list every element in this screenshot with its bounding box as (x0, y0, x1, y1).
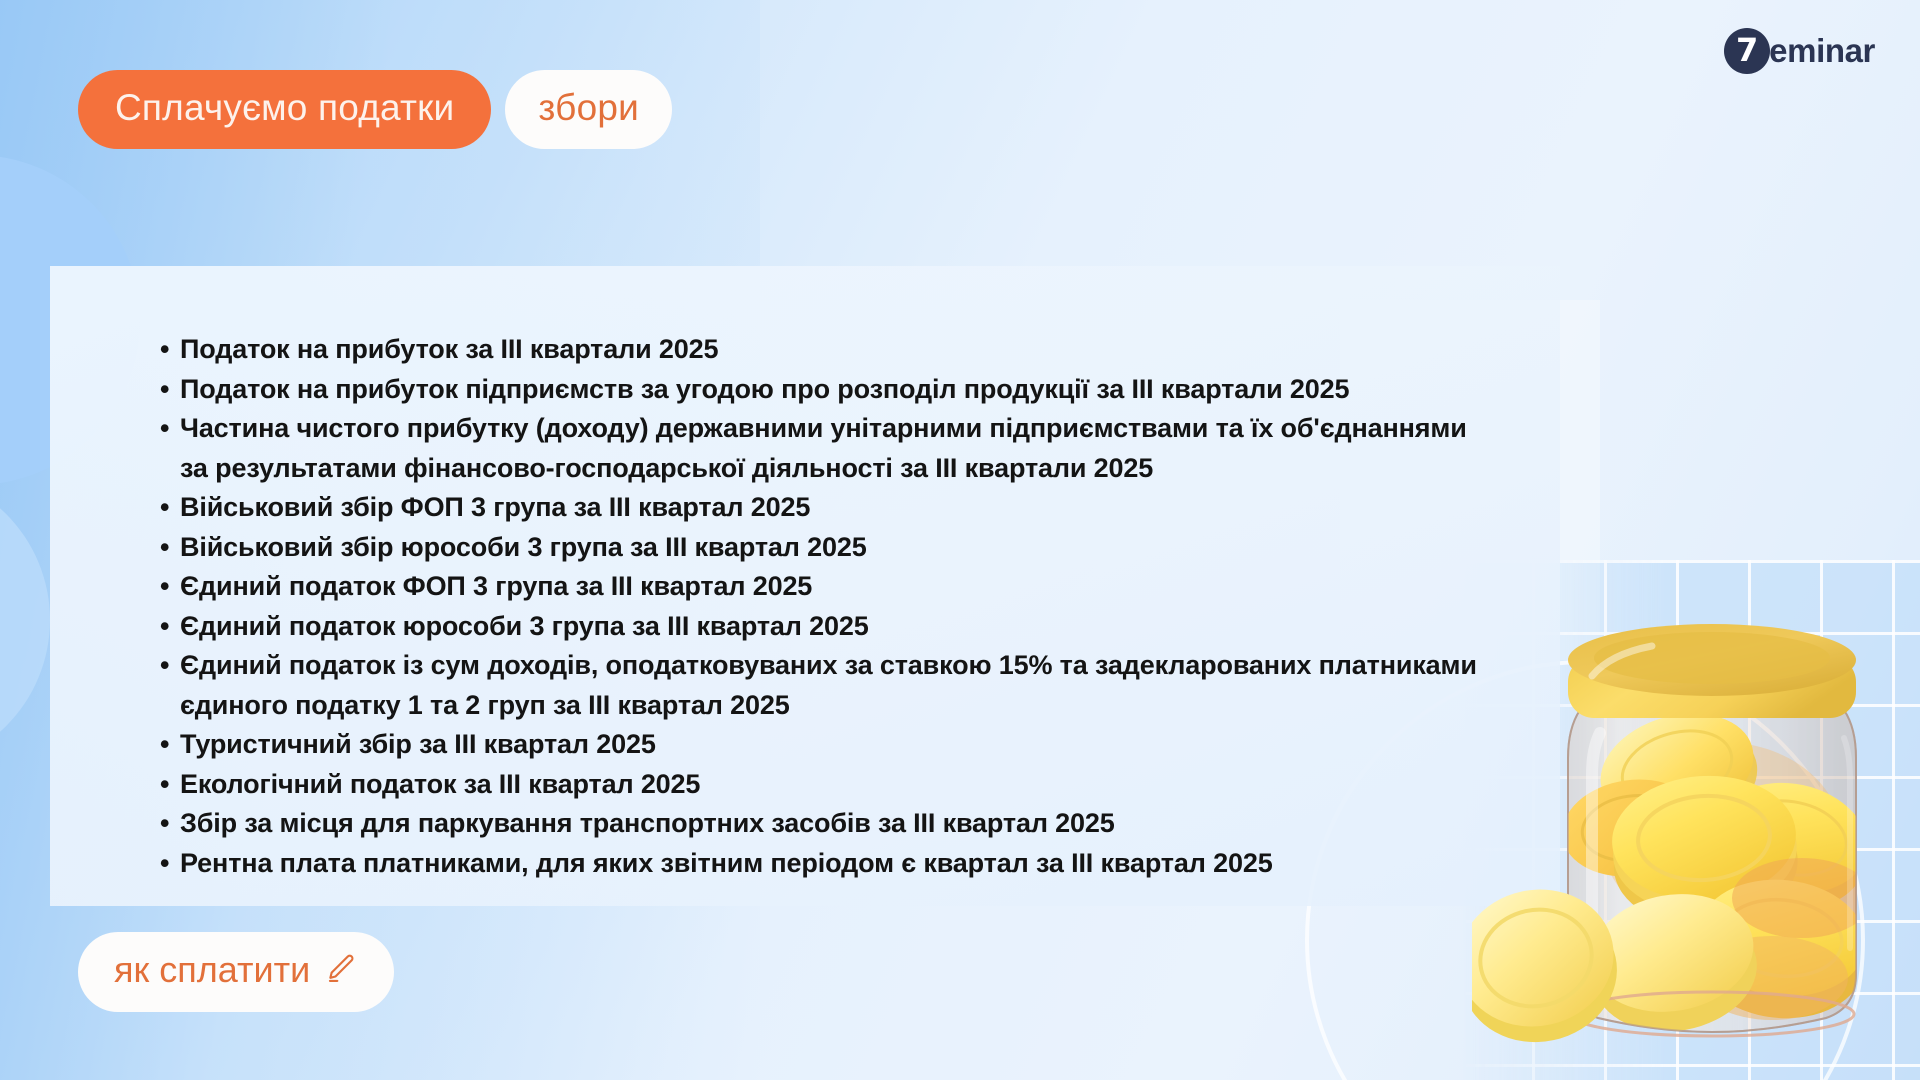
header-title-row: Сплачуємо податки збори (78, 70, 672, 149)
tax-list-item: Військовий збір ФОП 3 група за III кварт… (160, 488, 1490, 528)
pencil-icon (324, 952, 358, 986)
slide-root: Сплачуємо податки збори 7 eminar Податок… (0, 0, 1920, 1080)
tax-list-item: Збір за місця для паркування транспортни… (160, 804, 1490, 844)
background-circle-decoration-secondary (0, 470, 50, 770)
tax-list-item: Частина чистого прибутку (доходу) держав… (160, 409, 1490, 488)
brand-logo[interactable]: 7 eminar (1724, 28, 1875, 74)
tax-list-item: Рентна плата платниками, для яких звітни… (160, 844, 1490, 884)
how-to-pay-label: як сплатити (114, 952, 310, 988)
tax-obligations-list: Податок на прибуток за III квартали 2025… (160, 330, 1490, 883)
tax-list-item: Єдиний податок юрособи 3 група за III кв… (160, 607, 1490, 647)
logo-seven-icon: 7 (1724, 28, 1770, 74)
tax-list-item: Податок на прибуток за III квартали 2025 (160, 330, 1490, 370)
coin-jar-illustration (1472, 538, 1892, 1058)
title-pill-fees: збори (505, 70, 672, 149)
tax-list-item: Військовий збір юрособи 3 група за III к… (160, 528, 1490, 568)
tax-list-item: Екологічний податок за III квартал 2025 (160, 765, 1490, 805)
tax-list-item: Єдиний податок ФОП 3 група за III кварта… (160, 567, 1490, 607)
how-to-pay-button[interactable]: як сплатити (78, 932, 394, 1012)
tax-list-item: Туристичний збір за III квартал 2025 (160, 725, 1490, 765)
title-pill-taxes: Сплачуємо податки (78, 70, 491, 149)
tax-list-item: Єдиний податок із сум доходів, оподатков… (160, 646, 1490, 725)
tax-list-item: Податок на прибуток підприємств за угодо… (160, 370, 1490, 410)
logo-wordmark: eminar (1769, 32, 1875, 70)
